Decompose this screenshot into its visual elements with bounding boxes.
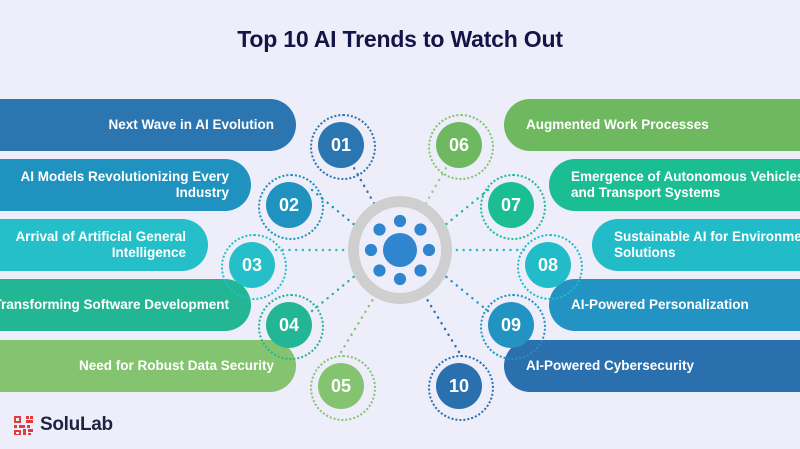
brand-name: SoluLab bbox=[40, 414, 113, 436]
number-badge-07[interactable]: 07 bbox=[488, 182, 534, 228]
trend-bar-08[interactable]: Sustainable AI for Environmental Solutio… bbox=[592, 219, 800, 271]
trend-label-09: AI-Powered Personalization bbox=[571, 297, 749, 313]
trend-bar-10[interactable]: AI-Powered Cybersecurity bbox=[504, 340, 800, 392]
number-badge-08[interactable]: 08 bbox=[525, 242, 571, 288]
trend-label-06: Augmented Work Processes bbox=[526, 117, 709, 133]
trend-label-08: Sustainable AI for Environmental Solutio… bbox=[614, 229, 800, 261]
infographic-canvas: Top 10 AI Trends to Watch Out Next Wave … bbox=[0, 0, 800, 449]
trend-label-05: Need for Robust Data Security bbox=[79, 358, 274, 374]
trend-bar-06[interactable]: Augmented Work Processes bbox=[504, 99, 800, 151]
trend-label-04: AI Transforming Software Development bbox=[0, 297, 229, 313]
trend-label-02: AI Models Revolutionizing Every Industry bbox=[0, 169, 229, 201]
trend-bar-02[interactable]: AI Models Revolutionizing Every Industry bbox=[0, 159, 251, 211]
trend-bar-07[interactable]: Emergence of Autonomous Vehicles and Tra… bbox=[549, 159, 800, 211]
trend-bar-04[interactable]: AI Transforming Software Development bbox=[0, 279, 251, 331]
trend-label-10: AI-Powered Cybersecurity bbox=[526, 358, 694, 374]
number-badge-01[interactable]: 01 bbox=[318, 122, 364, 168]
trend-bar-05[interactable]: Need for Robust Data Security bbox=[0, 340, 296, 392]
trend-label-03: Arrival of Artificial General Intelligen… bbox=[0, 229, 186, 261]
trend-label-01: Next Wave in AI Evolution bbox=[108, 117, 274, 133]
number-badge-05[interactable]: 05 bbox=[318, 363, 364, 409]
number-badge-03[interactable]: 03 bbox=[229, 242, 275, 288]
trend-bar-03[interactable]: Arrival of Artificial General Intelligen… bbox=[0, 219, 208, 271]
brand-logo[interactable]: SoluLab bbox=[14, 414, 113, 436]
ai-hub-icon bbox=[360, 208, 440, 292]
number-badge-09[interactable]: 09 bbox=[488, 302, 534, 348]
qr-logo-mark bbox=[14, 416, 33, 435]
trend-bar-01[interactable]: Next Wave in AI Evolution bbox=[0, 99, 296, 151]
number-badge-04[interactable]: 04 bbox=[266, 302, 312, 348]
number-badge-10[interactable]: 10 bbox=[436, 363, 482, 409]
number-badge-02[interactable]: 02 bbox=[266, 182, 312, 228]
trend-bar-09[interactable]: AI-Powered Personalization bbox=[549, 279, 800, 331]
trend-label-07: Emergence of Autonomous Vehicles and Tra… bbox=[571, 169, 800, 201]
number-badge-06[interactable]: 06 bbox=[436, 122, 482, 168]
